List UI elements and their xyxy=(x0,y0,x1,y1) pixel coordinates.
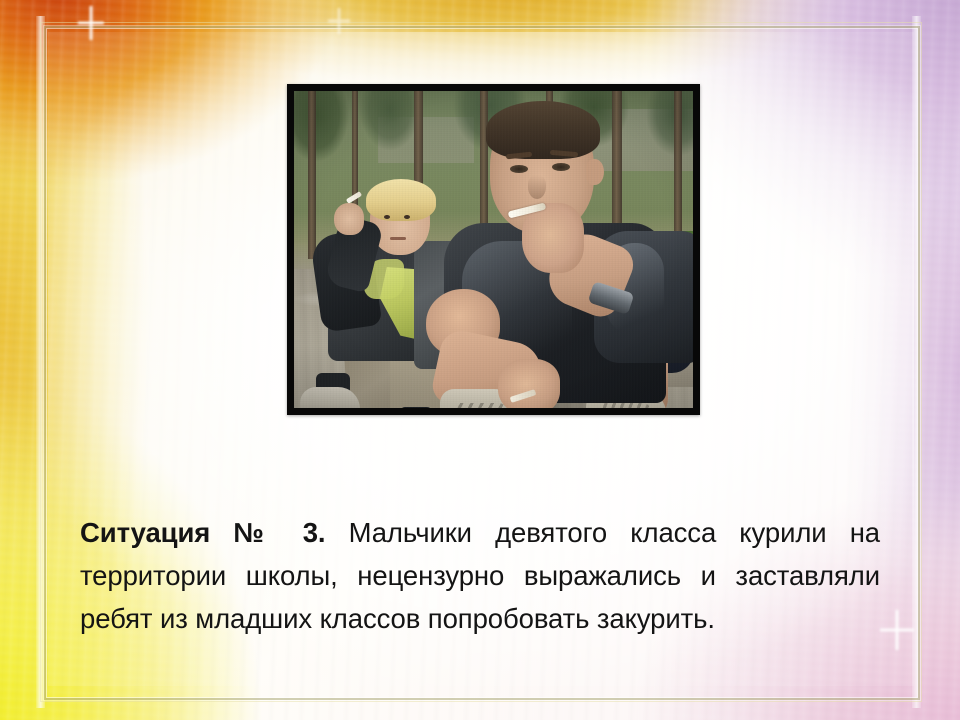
photo-right-boy-hand xyxy=(498,359,560,408)
slide-caption: Ситуация № 3. Мальчики девятого класса к… xyxy=(80,511,880,640)
photo-left-boy-hair xyxy=(366,179,436,221)
photograph-two-boys-smoking xyxy=(294,91,693,408)
photo-left-boy-hand xyxy=(334,203,364,235)
caption-lead-label: Ситуация № 3. xyxy=(80,517,325,548)
photo-left-boy-mouth xyxy=(390,237,406,240)
photo-right-boy-ear xyxy=(586,159,604,185)
photo-right-boy-eye xyxy=(510,165,528,173)
photo-right-boy-eye xyxy=(552,163,570,171)
photo-frame xyxy=(287,84,700,415)
photo-left-boy-eye xyxy=(404,215,410,219)
photo-left-boy-sock xyxy=(400,407,432,408)
photo-right-boy-hand-at-mouth xyxy=(522,203,584,273)
photo-right-boy-hair xyxy=(486,101,600,159)
photo-tree-trunk xyxy=(308,91,316,259)
photo-left-boy-eye xyxy=(384,215,390,219)
photo-right-boy-nose xyxy=(528,175,546,199)
slide-canvas: Ситуация № 3. Мальчики девятого класса к… xyxy=(0,0,960,720)
photo-right-boy-shoe-texture xyxy=(596,403,652,408)
photo-right-boy-shoe-texture xyxy=(450,403,508,408)
